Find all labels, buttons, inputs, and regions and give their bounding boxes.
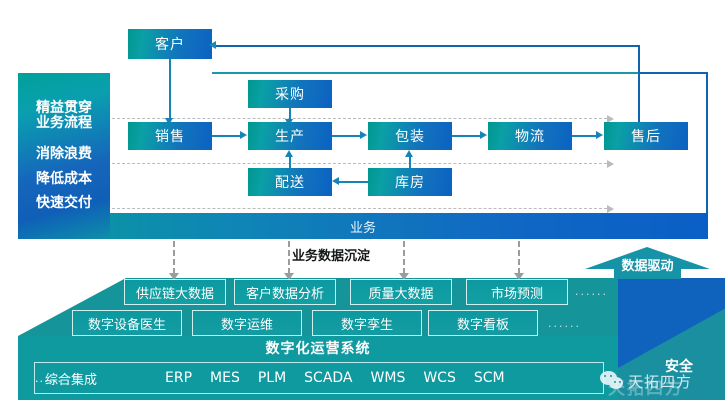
node-production-label: 生产 bbox=[275, 126, 305, 146]
node-sales[interactable]: 销售 bbox=[128, 122, 212, 150]
connector-packaging-logistics bbox=[452, 135, 481, 137]
data-card-equipment-doctor[interactable]: 数字设备医生 bbox=[72, 310, 182, 336]
watermark: 天拓四方 bbox=[600, 358, 725, 404]
arrowhead-packaging-logistics bbox=[480, 131, 487, 139]
business-bar-label: 业务 bbox=[350, 217, 376, 236]
system-more: ...... bbox=[35, 372, 62, 385]
business-bar: 业务 bbox=[18, 213, 708, 239]
sidebar-item-delivery: 快速交付 bbox=[18, 196, 110, 211]
system-erp[interactable]: ERP bbox=[165, 370, 192, 386]
node-packaging-label: 包装 bbox=[395, 126, 425, 146]
node-warehouse[interactable]: 库房 bbox=[368, 168, 452, 196]
guide-line-1 bbox=[112, 118, 607, 119]
precip-dash-3 bbox=[403, 241, 405, 274]
data-card-market-forecast[interactable]: 市场预测 bbox=[466, 279, 568, 305]
feedback-arrowhead-customer bbox=[209, 41, 216, 49]
node-aftersales-label: 售后 bbox=[631, 126, 661, 146]
platform-lead-label: 综合集成 bbox=[45, 369, 165, 388]
arrowhead-warehouse-distribution bbox=[332, 177, 339, 185]
data-card-quality[interactable]: 质量大数据 bbox=[350, 279, 452, 305]
node-packaging[interactable]: 包装 bbox=[368, 122, 452, 150]
platform-base: 数字化运营系统 综合集成 ERP MES PLM SCADA WMS WCS S… bbox=[18, 336, 618, 400]
system-wcs[interactable]: WCS bbox=[423, 370, 456, 386]
arrowhead-warehouse-packaging bbox=[405, 150, 413, 157]
platform-systems-row: 综合集成 ERP MES PLM SCADA WMS WCS SCM .....… bbox=[34, 362, 604, 394]
arrowhead-distribution-production bbox=[285, 150, 293, 157]
arrowhead-sales-production bbox=[240, 131, 247, 139]
connector-sales-production bbox=[212, 135, 241, 137]
node-procurement-label: 采购 bbox=[275, 84, 305, 104]
precip-dash-4 bbox=[518, 241, 520, 274]
guide-arrowhead-3 bbox=[607, 205, 614, 213]
data-card-digital-ops[interactable]: 数字运维 bbox=[192, 310, 302, 336]
node-distribution[interactable]: 配送 bbox=[248, 168, 332, 196]
connector-warehouse-distribution bbox=[339, 181, 368, 183]
feedback-line-to-customer bbox=[216, 45, 640, 47]
data-card-digital-dashboard-label: 数字看板 bbox=[457, 314, 509, 333]
system-scm[interactable]: SCM bbox=[474, 370, 505, 386]
data-row1-more: ...... bbox=[575, 285, 608, 298]
data-card-supply-chain-label: 供应链大数据 bbox=[136, 283, 214, 302]
node-aftersales[interactable]: 售后 bbox=[604, 122, 688, 150]
data-card-digital-dashboard[interactable]: 数字看板 bbox=[428, 310, 538, 336]
node-customer[interactable]: 客户 bbox=[128, 29, 212, 59]
precip-dash-2 bbox=[288, 241, 290, 274]
system-scada[interactable]: SCADA bbox=[304, 370, 352, 386]
data-card-digital-twin-label: 数字孪生 bbox=[341, 314, 393, 333]
precipitation-label: 业务数据沉淀 bbox=[292, 245, 370, 264]
data-card-customer-analytics-label: 客户数据分析 bbox=[246, 283, 324, 302]
guide-arrowhead-2 bbox=[607, 160, 614, 168]
data-card-equipment-doctor-label: 数字设备医生 bbox=[88, 314, 166, 333]
connector-customer-to-sales bbox=[169, 59, 171, 119]
node-sales-label: 销售 bbox=[155, 126, 185, 146]
system-mes[interactable]: MES bbox=[210, 370, 240, 386]
connector-warehouse-packaging bbox=[409, 157, 411, 168]
node-logistics-label: 物流 bbox=[515, 126, 545, 146]
system-plm[interactable]: PLM bbox=[258, 370, 286, 386]
sidebar-item-waste: 消除浪费 bbox=[18, 147, 110, 162]
arrowhead-production-packaging bbox=[360, 131, 367, 139]
data-card-quality-label: 质量大数据 bbox=[368, 283, 433, 302]
arrowhead-logistics-aftersales bbox=[596, 131, 603, 139]
feedback-line-right-top bbox=[638, 72, 708, 74]
data-card-customer-analytics[interactable]: 客户数据分析 bbox=[234, 279, 336, 305]
node-production[interactable]: 生产 bbox=[248, 122, 332, 150]
feedback-line-aftersales-up bbox=[638, 45, 640, 123]
node-distribution-label: 配送 bbox=[275, 172, 305, 192]
data-card-supply-chain[interactable]: 供应链大数据 bbox=[124, 279, 226, 305]
connector-distribution-production bbox=[289, 157, 291, 168]
data-card-digital-ops-label: 数字运维 bbox=[221, 314, 273, 333]
connector-logistics-aftersales bbox=[572, 135, 597, 137]
sidebar-item-cost: 降低成本 bbox=[18, 172, 110, 187]
wechat-icon bbox=[600, 371, 624, 391]
guide-line-2 bbox=[112, 163, 607, 164]
feedback-line-top-teal bbox=[212, 72, 708, 74]
feedback-line-right-down bbox=[706, 72, 708, 220]
connector-production-packaging bbox=[332, 135, 361, 137]
system-wms[interactable]: WMS bbox=[371, 370, 406, 386]
sidebar-item-lean: 精益贯穿 业务流程 bbox=[18, 101, 110, 131]
precip-dash-1 bbox=[173, 241, 175, 274]
node-procurement[interactable]: 采购 bbox=[248, 80, 332, 108]
guide-line-3 bbox=[112, 208, 607, 209]
data-card-digital-twin[interactable]: 数字孪生 bbox=[312, 310, 422, 336]
watermark-text: 天拓四方 bbox=[628, 371, 692, 392]
node-logistics[interactable]: 物流 bbox=[488, 122, 572, 150]
node-customer-label: 客户 bbox=[155, 34, 185, 54]
data-driven-label: 数据驱动 bbox=[585, 255, 710, 274]
node-warehouse-label: 库房 bbox=[395, 172, 425, 192]
platform-title: 数字化运营系统 bbox=[18, 336, 618, 360]
principles-sidebar: 精益贯穿 业务流程 消除浪费 降低成本 快速交付 bbox=[18, 73, 110, 239]
sidebar-item-lean-line2: 业务流程 bbox=[18, 116, 110, 131]
data-card-market-forecast-label: 市场预测 bbox=[491, 283, 543, 302]
data-row2-more: ...... bbox=[548, 317, 581, 330]
diagram-canvas: 精益贯穿 业务流程 消除浪费 降低成本 快速交付 客户 采购 销售 生产 包装 … bbox=[0, 0, 725, 408]
